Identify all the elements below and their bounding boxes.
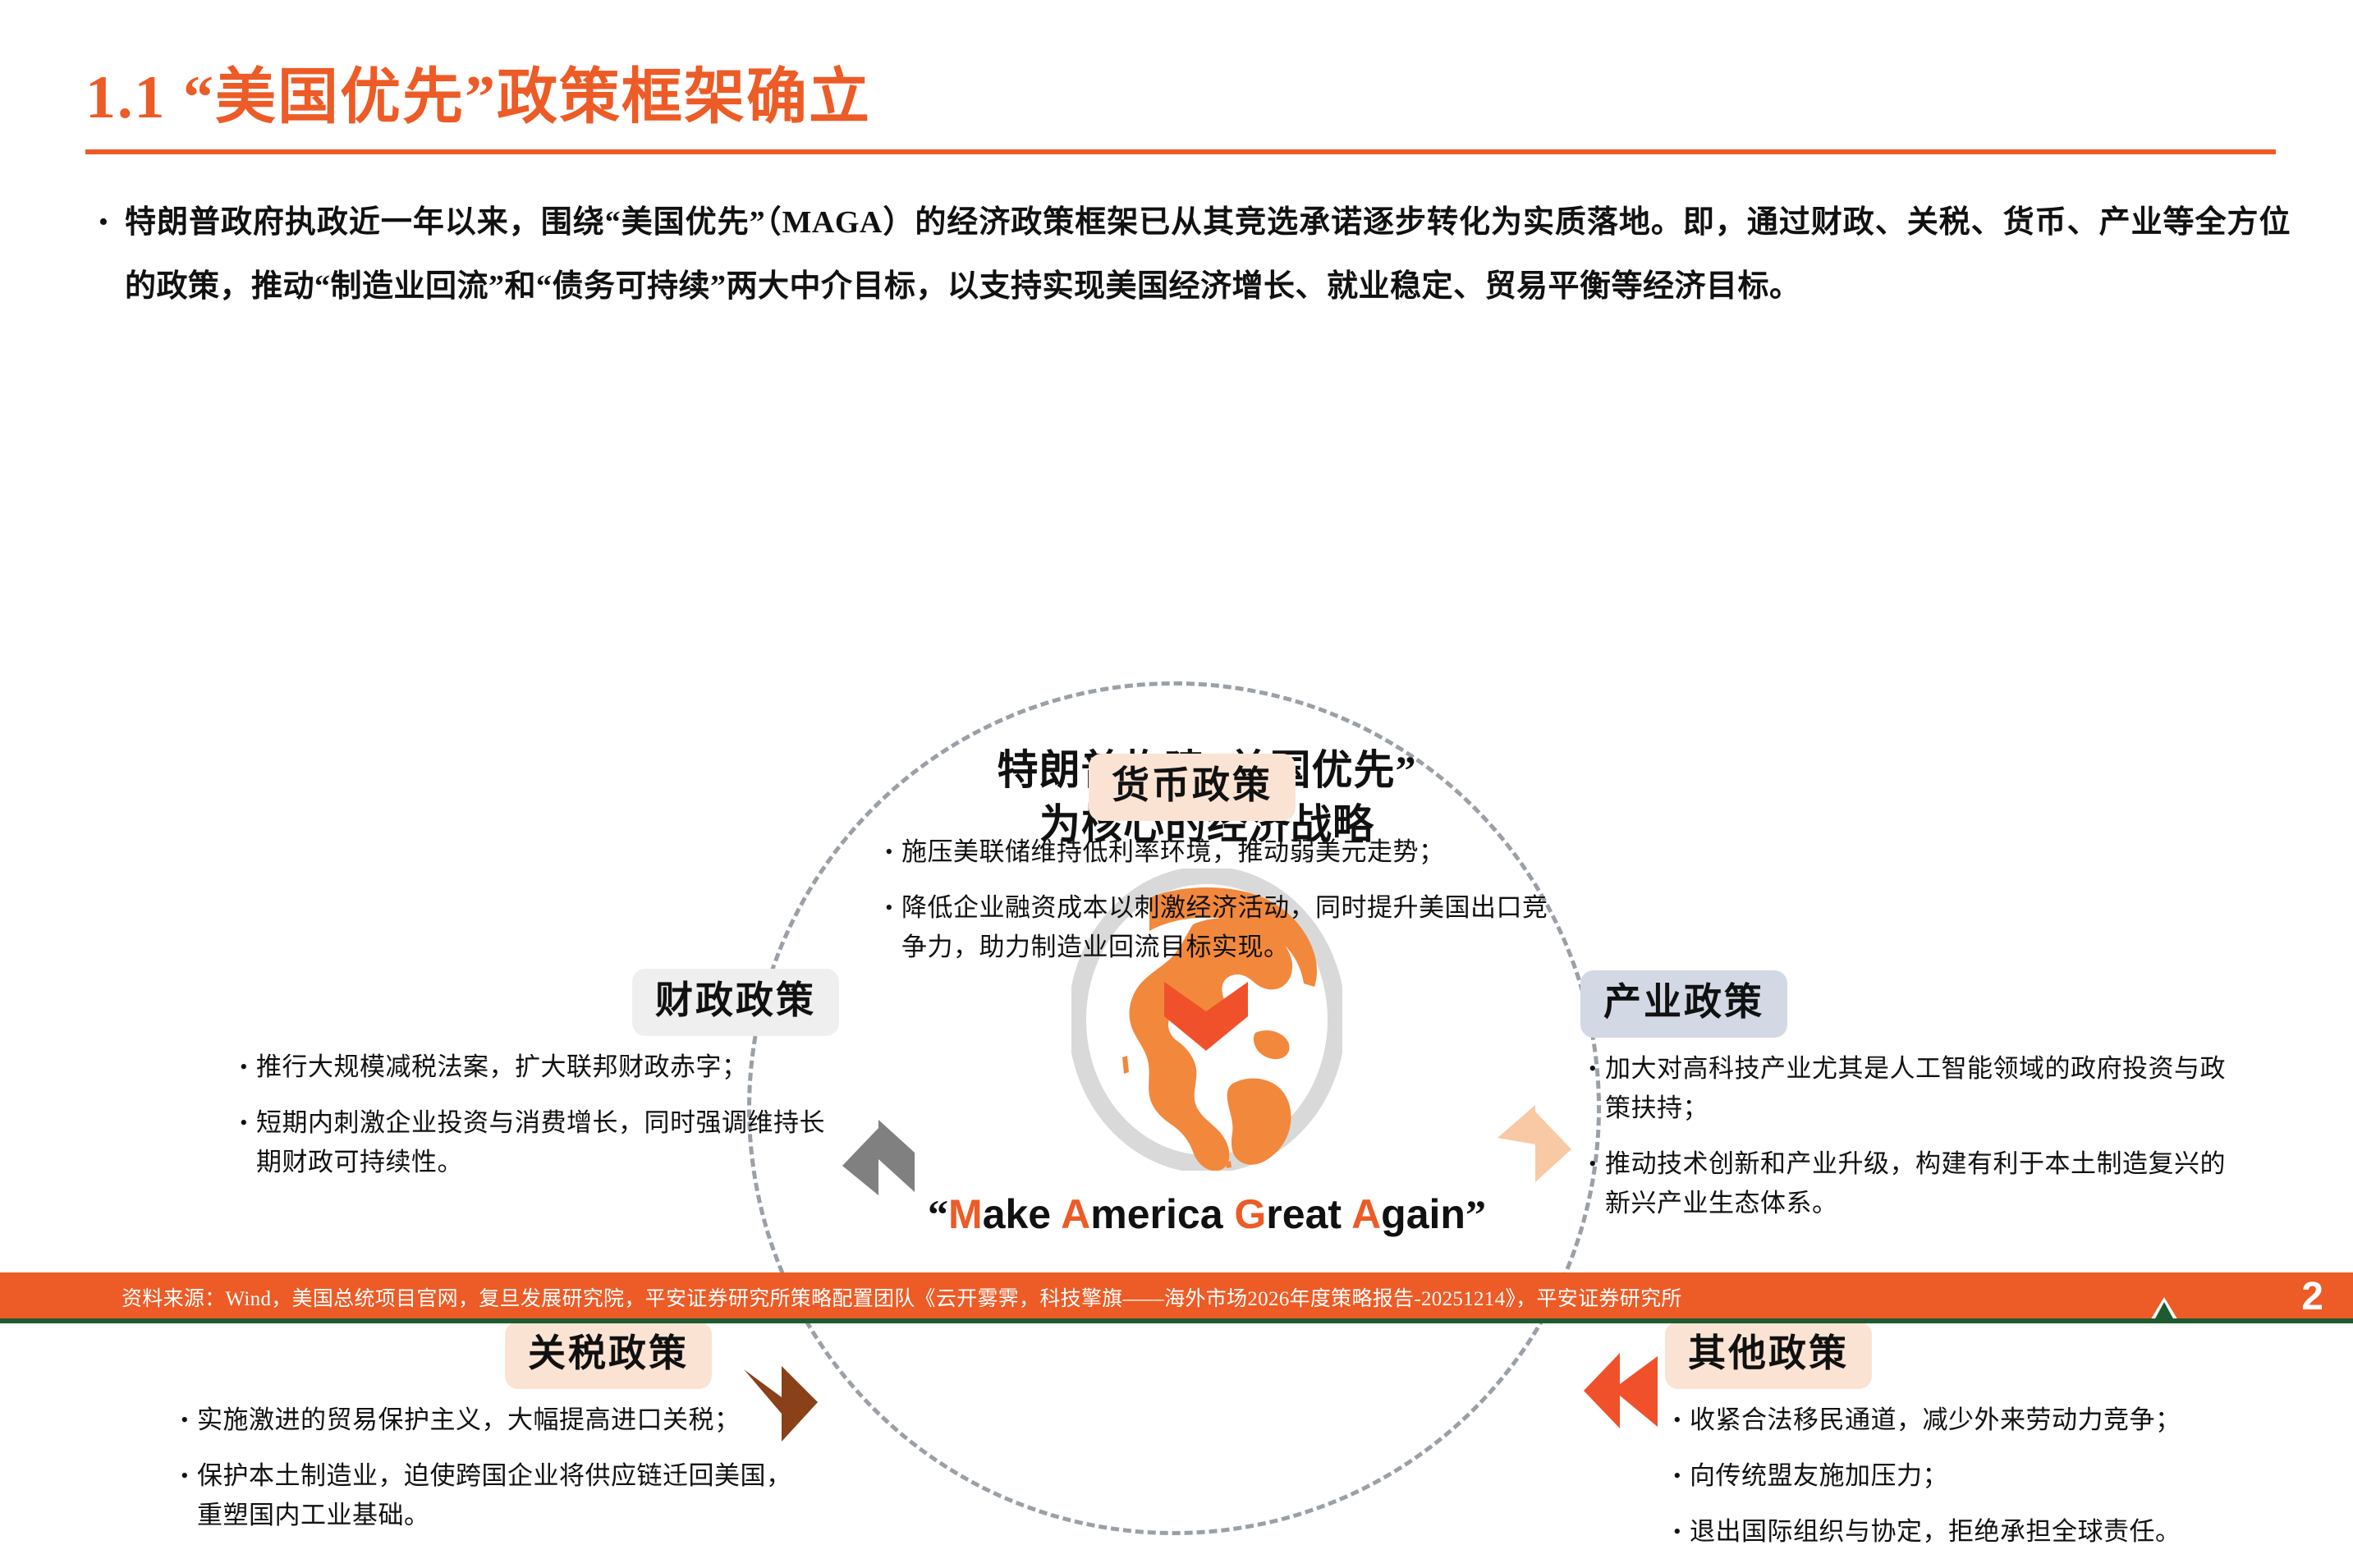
policy-bullet-list-tariff: •实施激进的贸易保护主义，大幅提高进口关税； •保护本土制造业，迫使跨国企业将供… bbox=[172, 1401, 805, 1535]
list-item: •收紧合法移民通道，减少外来劳动力竞争； bbox=[1665, 1401, 2338, 1440]
footer-bottom-rule bbox=[0, 1318, 2353, 1323]
policy-block-industry: 产业政策 •加大对高科技产业尤其是人工智能领域的政府投资与政策扶持； •推动技术… bbox=[1580, 970, 2237, 1240]
bullet-text: 向传统盟友施加压力； bbox=[1690, 1456, 2338, 1496]
policy-block-title-fiscal: 财政政策 bbox=[632, 969, 839, 1036]
policy-block-monetary: 货币政策 •施压美联储维持低利率环境，推动弱美元走势； •降低企业融资成本以刺激… bbox=[877, 754, 1558, 983]
bullet-glyph: • bbox=[172, 1401, 197, 1440]
maga-word-america: merica bbox=[1090, 1191, 1234, 1237]
bullet-text: 施压美联储维持低利率环境，推动弱美元走势； bbox=[901, 832, 1558, 872]
bullet-text: 短期内刺激企业投资与消费增长，同时强调维持长期财政可持续性。 bbox=[256, 1103, 839, 1182]
maga-letter-m: M bbox=[948, 1191, 983, 1237]
list-item: •保护本土制造业，迫使跨国企业将供应链迁回美国，重塑国内工业基础。 bbox=[172, 1456, 805, 1535]
footer-bar: 资料来源：Wind，美国总统项目官网，复旦发展研究院，平安证券研究所策略配置团队… bbox=[0, 1272, 2353, 1323]
maga-letter-a2: A bbox=[1351, 1191, 1381, 1237]
lead-paragraph: • 特朗普政府执政近一年以来，围绕“美国优先”（MAGA）的经济政策框架已从其竞… bbox=[82, 190, 2291, 319]
list-item: •推动技术创新和产业升级，构建有利于本土制造复兴的新兴产业生态体系。 bbox=[1580, 1144, 2237, 1223]
maga-word-great: reat bbox=[1266, 1191, 1351, 1237]
arrow-right-fiscal bbox=[839, 1116, 918, 1199]
maga-word-make: ake bbox=[983, 1191, 1061, 1237]
bullet-text: 退出国际组织与协定，拒绝承担全球责任。 bbox=[1690, 1512, 2338, 1552]
bullet-text: 推动技术创新和产业升级，构建有利于本土制造复兴的新兴产业生态体系。 bbox=[1605, 1144, 2237, 1223]
list-item: •实施激进的贸易保护主义，大幅提高进口关税； bbox=[172, 1401, 805, 1440]
bullet-glyph: • bbox=[877, 832, 901, 872]
maga-close-quote: ” bbox=[1465, 1191, 1486, 1237]
maga-letter-a1: A bbox=[1061, 1191, 1090, 1237]
bullet-glyph: • bbox=[232, 1048, 256, 1087]
page-title: 1.1 “美国优先”政策框架确立 bbox=[85, 48, 871, 135]
title-underline-rule bbox=[85, 149, 2276, 154]
arrow-down-monetary bbox=[1161, 979, 1251, 1054]
list-item: •降低企业融资成本以刺激经济活动，同时提升美国出口竞争力，助力制造业回流目标实现… bbox=[877, 888, 1558, 967]
bullet-text: 保护本土制造业，迫使跨国企业将供应链迁回美国，重塑国内工业基础。 bbox=[197, 1456, 805, 1535]
list-item: •退出国际组织与协定，拒绝承担全球责任。 bbox=[1665, 1512, 2338, 1552]
bullet-text: 实施激进的贸易保护主义，大幅提高进口关税； bbox=[197, 1401, 805, 1440]
bullet-text: 降低企业融资成本以刺激经济活动，同时提升美国出口竞争力，助力制造业回流目标实现。 bbox=[901, 888, 1558, 967]
list-item: •加大对高科技产业尤其是人工智能领域的政府投资与政策扶持； bbox=[1580, 1049, 2237, 1128]
policy-bullet-list-monetary: •施压美联储维持低利率环境，推动弱美元走势； •降低企业融资成本以刺激经济活动，… bbox=[877, 832, 1558, 967]
policy-block-title-tariff: 关税政策 bbox=[505, 1322, 712, 1389]
maga-word-again: gain bbox=[1381, 1191, 1465, 1237]
bullet-glyph: • bbox=[1665, 1512, 1690, 1552]
lead-bullet-glyph: • bbox=[82, 190, 125, 254]
list-item: •推行大规模减税法案，扩大联邦财政赤字； bbox=[232, 1048, 839, 1087]
maga-slogan: “Make America Great Again” bbox=[887, 1190, 1527, 1238]
bullet-glyph: • bbox=[877, 888, 901, 928]
bullet-glyph: • bbox=[1665, 1401, 1690, 1440]
bullet-text: 加大对高科技产业尤其是人工智能领域的政府投资与政策扶持； bbox=[1605, 1049, 2237, 1128]
policy-block-title-industry: 产业政策 bbox=[1580, 970, 1787, 1038]
maga-open-quote: “ bbox=[928, 1191, 948, 1237]
bullet-glyph: • bbox=[1580, 1144, 1605, 1184]
arrow-left-industry bbox=[1493, 1102, 1575, 1187]
bullet-glyph: • bbox=[232, 1103, 256, 1143]
bullet-glyph: • bbox=[172, 1456, 197, 1496]
list-item: •短期内刺激企业投资与消费增长，同时强调维持长期财政可持续性。 bbox=[232, 1103, 839, 1182]
list-item: •向传统盟友施加压力； bbox=[1665, 1456, 2338, 1496]
list-item: •施压美联储维持低利率环境，推动弱美元走势； bbox=[877, 832, 1558, 872]
policy-framework-diagram: 特朗普构建“美国优先” 为核心的经济战略 “Make America Great… bbox=[0, 353, 2353, 1248]
page-number: 2 bbox=[2301, 1274, 2323, 1319]
bullet-glyph: • bbox=[1665, 1456, 1690, 1496]
source-note: 资料来源：Wind，美国总统项目官网，复旦发展研究院，平安证券研究所策略配置团队… bbox=[122, 1282, 1682, 1312]
policy-bullet-list-industry: •加大对高科技产业尤其是人工智能领域的政府投资与政策扶持； •推动技术创新和产业… bbox=[1580, 1049, 2237, 1223]
policy-block-title-monetary: 货币政策 bbox=[1089, 754, 1296, 821]
bullet-glyph: • bbox=[1580, 1049, 1605, 1089]
maga-letter-g: G bbox=[1234, 1191, 1266, 1237]
lead-paragraph-text: 特朗普政府执政近一年以来，围绕“美国优先”（MAGA）的经济政策框架已从其竞选承… bbox=[125, 190, 2291, 319]
policy-block-other: 其他政策 •收紧合法移民通道，减少外来劳动力竞争； •向传统盟友施加压力； •退… bbox=[1665, 1322, 2338, 1568]
policy-bullet-list-fiscal: •推行大规模减税法案，扩大联邦财政赤字； •短期内刺激企业投资与消费增长，同时强… bbox=[232, 1048, 839, 1182]
arrow-left-other bbox=[1580, 1348, 1663, 1433]
policy-block-tariff: 关税政策 •实施激进的贸易保护主义，大幅提高进口关税； •保护本土制造业，迫使跨… bbox=[156, 1322, 805, 1552]
policy-block-title-other: 其他政策 bbox=[1665, 1322, 1872, 1389]
slide: 1.1 “美国优先”政策框架确立 • 特朗普政府执政近一年以来，围绕“美国优先”… bbox=[0, 0, 2353, 1323]
bullet-text: 收紧合法移民通道，减少外来劳动力竞争； bbox=[1690, 1401, 2338, 1440]
policy-bullet-list-other: •收紧合法移民通道，减少外来劳动力竞争； •向传统盟友施加压力； •退出国际组织… bbox=[1665, 1401, 2338, 1552]
policy-block-fiscal: 财政政策 •推行大规模减税法案，扩大联邦财政赤字； •短期内刺激企业投资与消费增… bbox=[182, 969, 839, 1199]
bullet-text: 推行大规模减税法案，扩大联邦财政赤字； bbox=[256, 1048, 839, 1087]
